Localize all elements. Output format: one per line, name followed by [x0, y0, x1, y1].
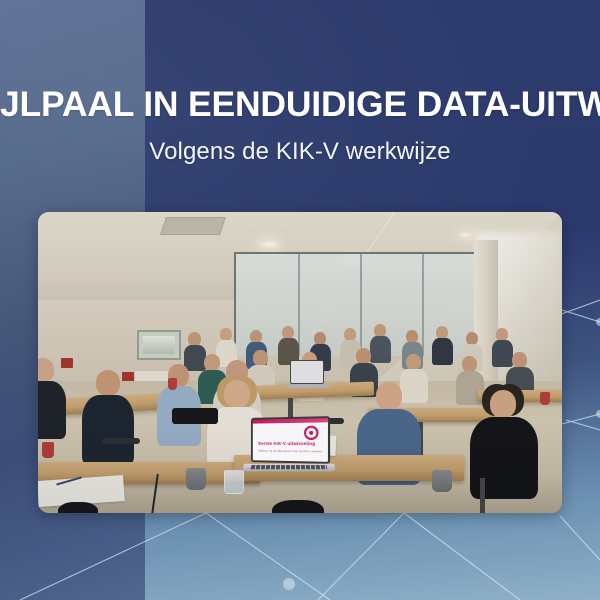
- backpack: [272, 500, 324, 513]
- glass-mullion: [360, 254, 362, 356]
- laptop-base: [242, 464, 336, 472]
- presentation-slide: JLPAAL IN EENDUIDIGE DATA-UITWISSEL Volg…: [0, 0, 600, 600]
- kikv-logo-icon: [304, 426, 318, 440]
- framed-picture: [137, 330, 181, 360]
- slide-subheadline: Volgens de KIK-V werkwijze: [0, 138, 600, 166]
- bag: [58, 502, 98, 513]
- ceiling-light: [258, 240, 280, 249]
- laptop-slide-subtitle: Welkom bij de bijeenkomst van de KIK-V w…: [258, 449, 321, 454]
- glass-mullion: [422, 254, 424, 356]
- cup: [540, 392, 550, 405]
- glass-cup: [224, 470, 244, 494]
- laptop-screen: Eerste KIK-V uitwisseling Welkom bij de …: [251, 416, 330, 464]
- bag: [172, 408, 218, 424]
- chair: [102, 438, 140, 444]
- laptop-keyboard: [251, 465, 328, 469]
- slide-heading-block: JLPAAL IN EENDUIDIGE DATA-UITWISSEL Volg…: [0, 86, 600, 166]
- slide-headline: JLPAAL IN EENDUIDIGE DATA-UITWISSEL: [0, 86, 600, 122]
- ceiling-vent: [160, 217, 226, 235]
- group-photo-content: Eerste KIK-V uitwisseling Welkom bij de …: [38, 212, 562, 513]
- table-leg: [480, 478, 485, 513]
- glass-mullion: [298, 254, 300, 356]
- cup: [186, 468, 206, 490]
- cup: [42, 442, 54, 458]
- laptop: Eerste KIK-V uitwisseling Welkom bij de …: [243, 417, 335, 479]
- cup: [168, 378, 177, 390]
- wall-alarm: [61, 358, 73, 368]
- laptop-slide-title: Eerste KIK-V uitwisseling: [258, 441, 321, 446]
- slide-accent-bar: [253, 418, 328, 423]
- laptop-background: [290, 360, 324, 384]
- cup: [432, 470, 452, 492]
- group-photo: Eerste KIK-V uitwisseling Welkom bij de …: [38, 212, 562, 513]
